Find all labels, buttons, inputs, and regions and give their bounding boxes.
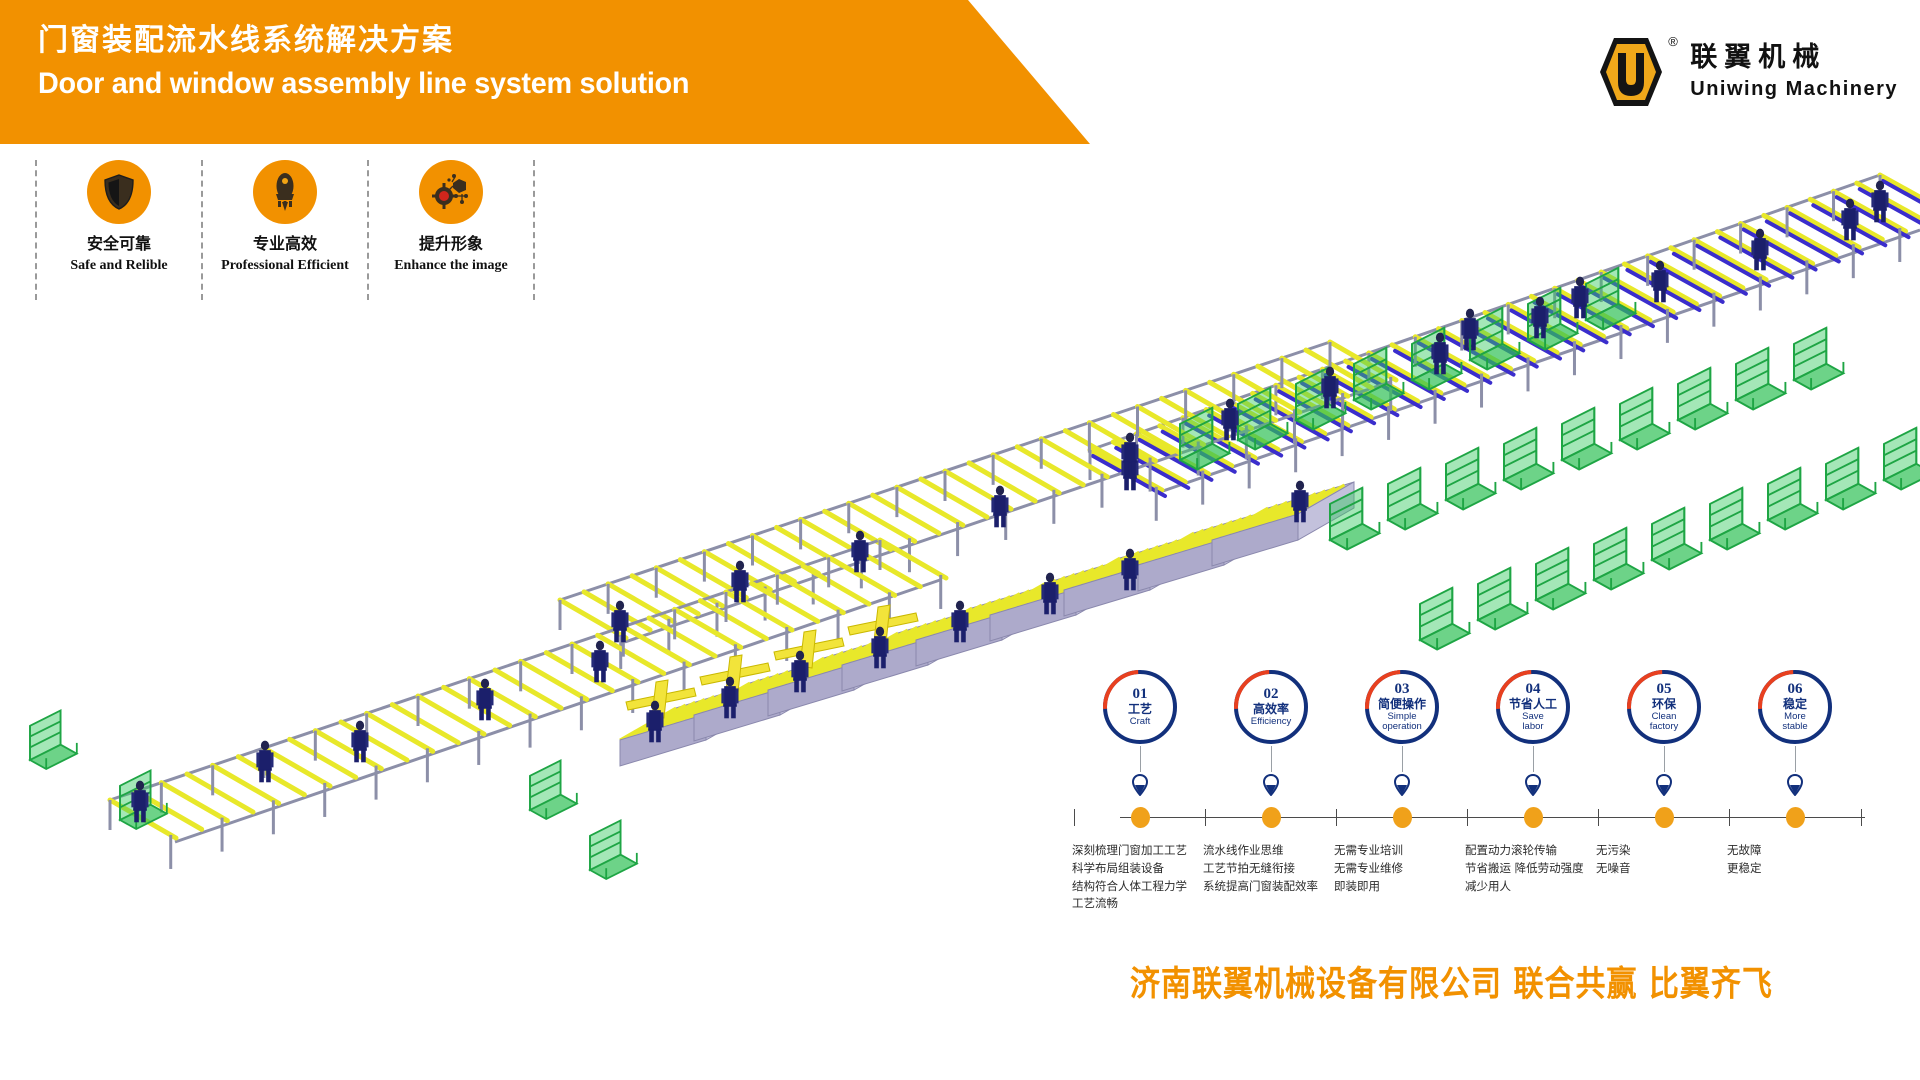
badge-number: 01 [1133,687,1148,702]
badge-stem [1402,746,1403,772]
material-cart [1884,428,1920,490]
benefit-badge-06[interactable]: 06稳定Morestable [1758,670,1832,744]
material-cart [1470,308,1519,370]
benefit-description-line: 系统提高门窗装配效率 [1203,878,1318,896]
timeline-tick [1598,809,1599,826]
timeline-tick [1467,809,1468,826]
badge-stem [1664,746,1665,772]
timeline-dot[interactable] [1655,807,1674,828]
material-cart [1620,388,1669,450]
map-pin-icon [1394,774,1410,796]
material-cart [1736,348,1785,410]
brand-wordmark: 联翼机械 Uniwing Machinery [1690,43,1898,101]
brand-logo: ® 联翼机械 Uniwing Machinery [1598,36,1898,108]
page-title-cn: 门窗装配流水线系统解决方案 [38,22,716,60]
material-cart [1536,548,1585,610]
material-cart [1678,368,1727,430]
map-pin-icon [1132,774,1148,796]
badge-label-en: Simpleoperation [1382,712,1422,732]
benefit-badge-01[interactable]: 01工艺Craft [1103,670,1177,744]
badge-stem [1795,746,1796,772]
brand-name-en: Uniwing Machinery [1690,78,1898,101]
benefit-description-line: 更稳定 [1727,860,1762,878]
map-pin-icon [1525,774,1541,796]
worker-figure [591,641,608,683]
header-text-block: 门窗装配流水线系统解决方案 Door and window assembly l… [38,22,716,103]
benefit-badge-02[interactable]: 02高效率Efficiency [1234,670,1308,744]
timeline-tick [1336,809,1337,826]
badge-label-en: Craft [1130,717,1151,727]
badge-label-en: Morestable [1782,712,1807,732]
map-pin-icon [1263,774,1279,796]
benefit-description: 无污染无噪音 [1596,842,1631,878]
badge-label-cn: 工艺 [1128,703,1152,717]
benefit-description-line: 无噪音 [1596,860,1631,878]
benefit-badge-05[interactable]: 05环保Cleanfactory [1627,670,1701,744]
timeline-axis [1120,817,1865,818]
benefits-timeline: 01工艺Craft02高效率Efficiency03简便操作Simpleoper… [1120,670,1920,970]
benefit-description-line: 结构符合人体工程力学 [1072,878,1187,896]
benefit-description-line: 流水线作业思维 [1203,842,1318,860]
material-cart [1388,468,1437,530]
material-cart [1794,328,1843,390]
material-cart [1768,468,1817,530]
footer: 济南联翼机械设备有限公司 联合共赢 比翼齐飞 [1130,955,1920,999]
hexagon-u-logo-icon: ® [1598,36,1664,108]
material-cart [1826,448,1875,510]
map-pin-icon [1787,774,1803,796]
material-cart [1594,528,1643,590]
timeline-dot[interactable] [1131,807,1150,828]
material-cart [1478,568,1527,630]
benefit-description-line: 节省搬运 降低劳动强度 [1465,860,1584,878]
map-pin-icon [1656,774,1672,796]
lower-long-conveyor [110,540,946,869]
badge-stem [1140,746,1141,772]
benefit-description: 深刻梳理门窗加工工艺科学布局组装设备结构符合人体工程力学工艺流畅 [1072,842,1187,913]
badge-number: 05 [1657,682,1672,697]
material-cart [30,711,77,770]
badge-number: 06 [1788,682,1803,697]
timeline-tick-end [1861,809,1862,826]
timeline-tick [1729,809,1730,826]
benefit-description-line: 科学布局组装设备 [1072,860,1187,878]
material-cart [1562,408,1611,470]
badge-number: 02 [1264,687,1279,702]
benefit-description: 配置动力滚轮传输节省搬运 降低劳动强度减少用人 [1465,842,1584,895]
benefit-description-line: 工艺流畅 [1072,895,1187,913]
timeline-tick [1074,809,1075,826]
benefit-description: 流水线作业思维工艺节拍无缝衔接系统提高门窗装配效率 [1203,842,1318,895]
benefit-description-line: 无故障 [1727,842,1762,860]
material-cart [1504,428,1553,490]
material-cart [590,821,637,880]
benefit-description-line: 深刻梳理门窗加工工艺 [1072,842,1187,860]
benefit-description-line: 无需专业培训 [1334,842,1403,860]
benefit-description-line: 无需专业维修 [1334,860,1403,878]
company-name: 济南联翼机械设备有限公司 联合共赢 比翼齐飞 [1130,955,1920,1006]
benefit-badge-04[interactable]: 04节省人工Savelabor [1496,670,1570,744]
badge-label-en: Cleanfactory [1650,712,1679,732]
material-cart [1420,588,1469,650]
badge-label-en: Efficiency [1251,717,1291,727]
badge-label-cn: 环保 [1652,698,1676,712]
material-cart [1586,268,1635,330]
benefit-description-line: 工艺节拍无缝衔接 [1203,860,1318,878]
brand-name-cn: 联翼机械 [1690,43,1898,73]
badge-label-cn: 稳定 [1783,698,1807,712]
material-cart [1446,448,1495,510]
benefit-description-line: 即装即用 [1334,878,1403,896]
badge-number: 03 [1395,682,1410,697]
material-cart [1710,488,1759,550]
badge-label-en: Savelabor [1522,712,1544,732]
material-cart [1652,508,1701,570]
benefit-description: 无故障更稳定 [1727,842,1762,878]
timeline-dot[interactable] [1262,807,1281,828]
benefit-description-line: 减少用人 [1465,878,1584,896]
benefit-description-line: 无污染 [1596,842,1631,860]
badge-label-cn: 节省人工 [1509,698,1557,712]
page-title-en: Door and window assembly line system sol… [38,64,689,103]
benefit-badge-03[interactable]: 03简便操作Simpleoperation [1365,670,1439,744]
badge-stem [1533,746,1534,772]
timeline-dot[interactable] [1786,807,1805,828]
timeline-dot[interactable] [1524,807,1543,828]
badge-number: 04 [1526,682,1541,697]
badge-label-cn: 高效率 [1253,703,1289,717]
material-cart [530,761,577,820]
timeline-dot[interactable] [1393,807,1412,828]
benefit-description: 无需专业培训无需专业维修即装即用 [1334,842,1403,895]
badge-stem [1271,746,1272,772]
timeline-tick [1205,809,1206,826]
registered-mark: ® [1668,34,1678,49]
benefit-description-line: 配置动力滚轮传输 [1465,842,1584,860]
badge-label-cn: 简便操作 [1378,698,1426,712]
